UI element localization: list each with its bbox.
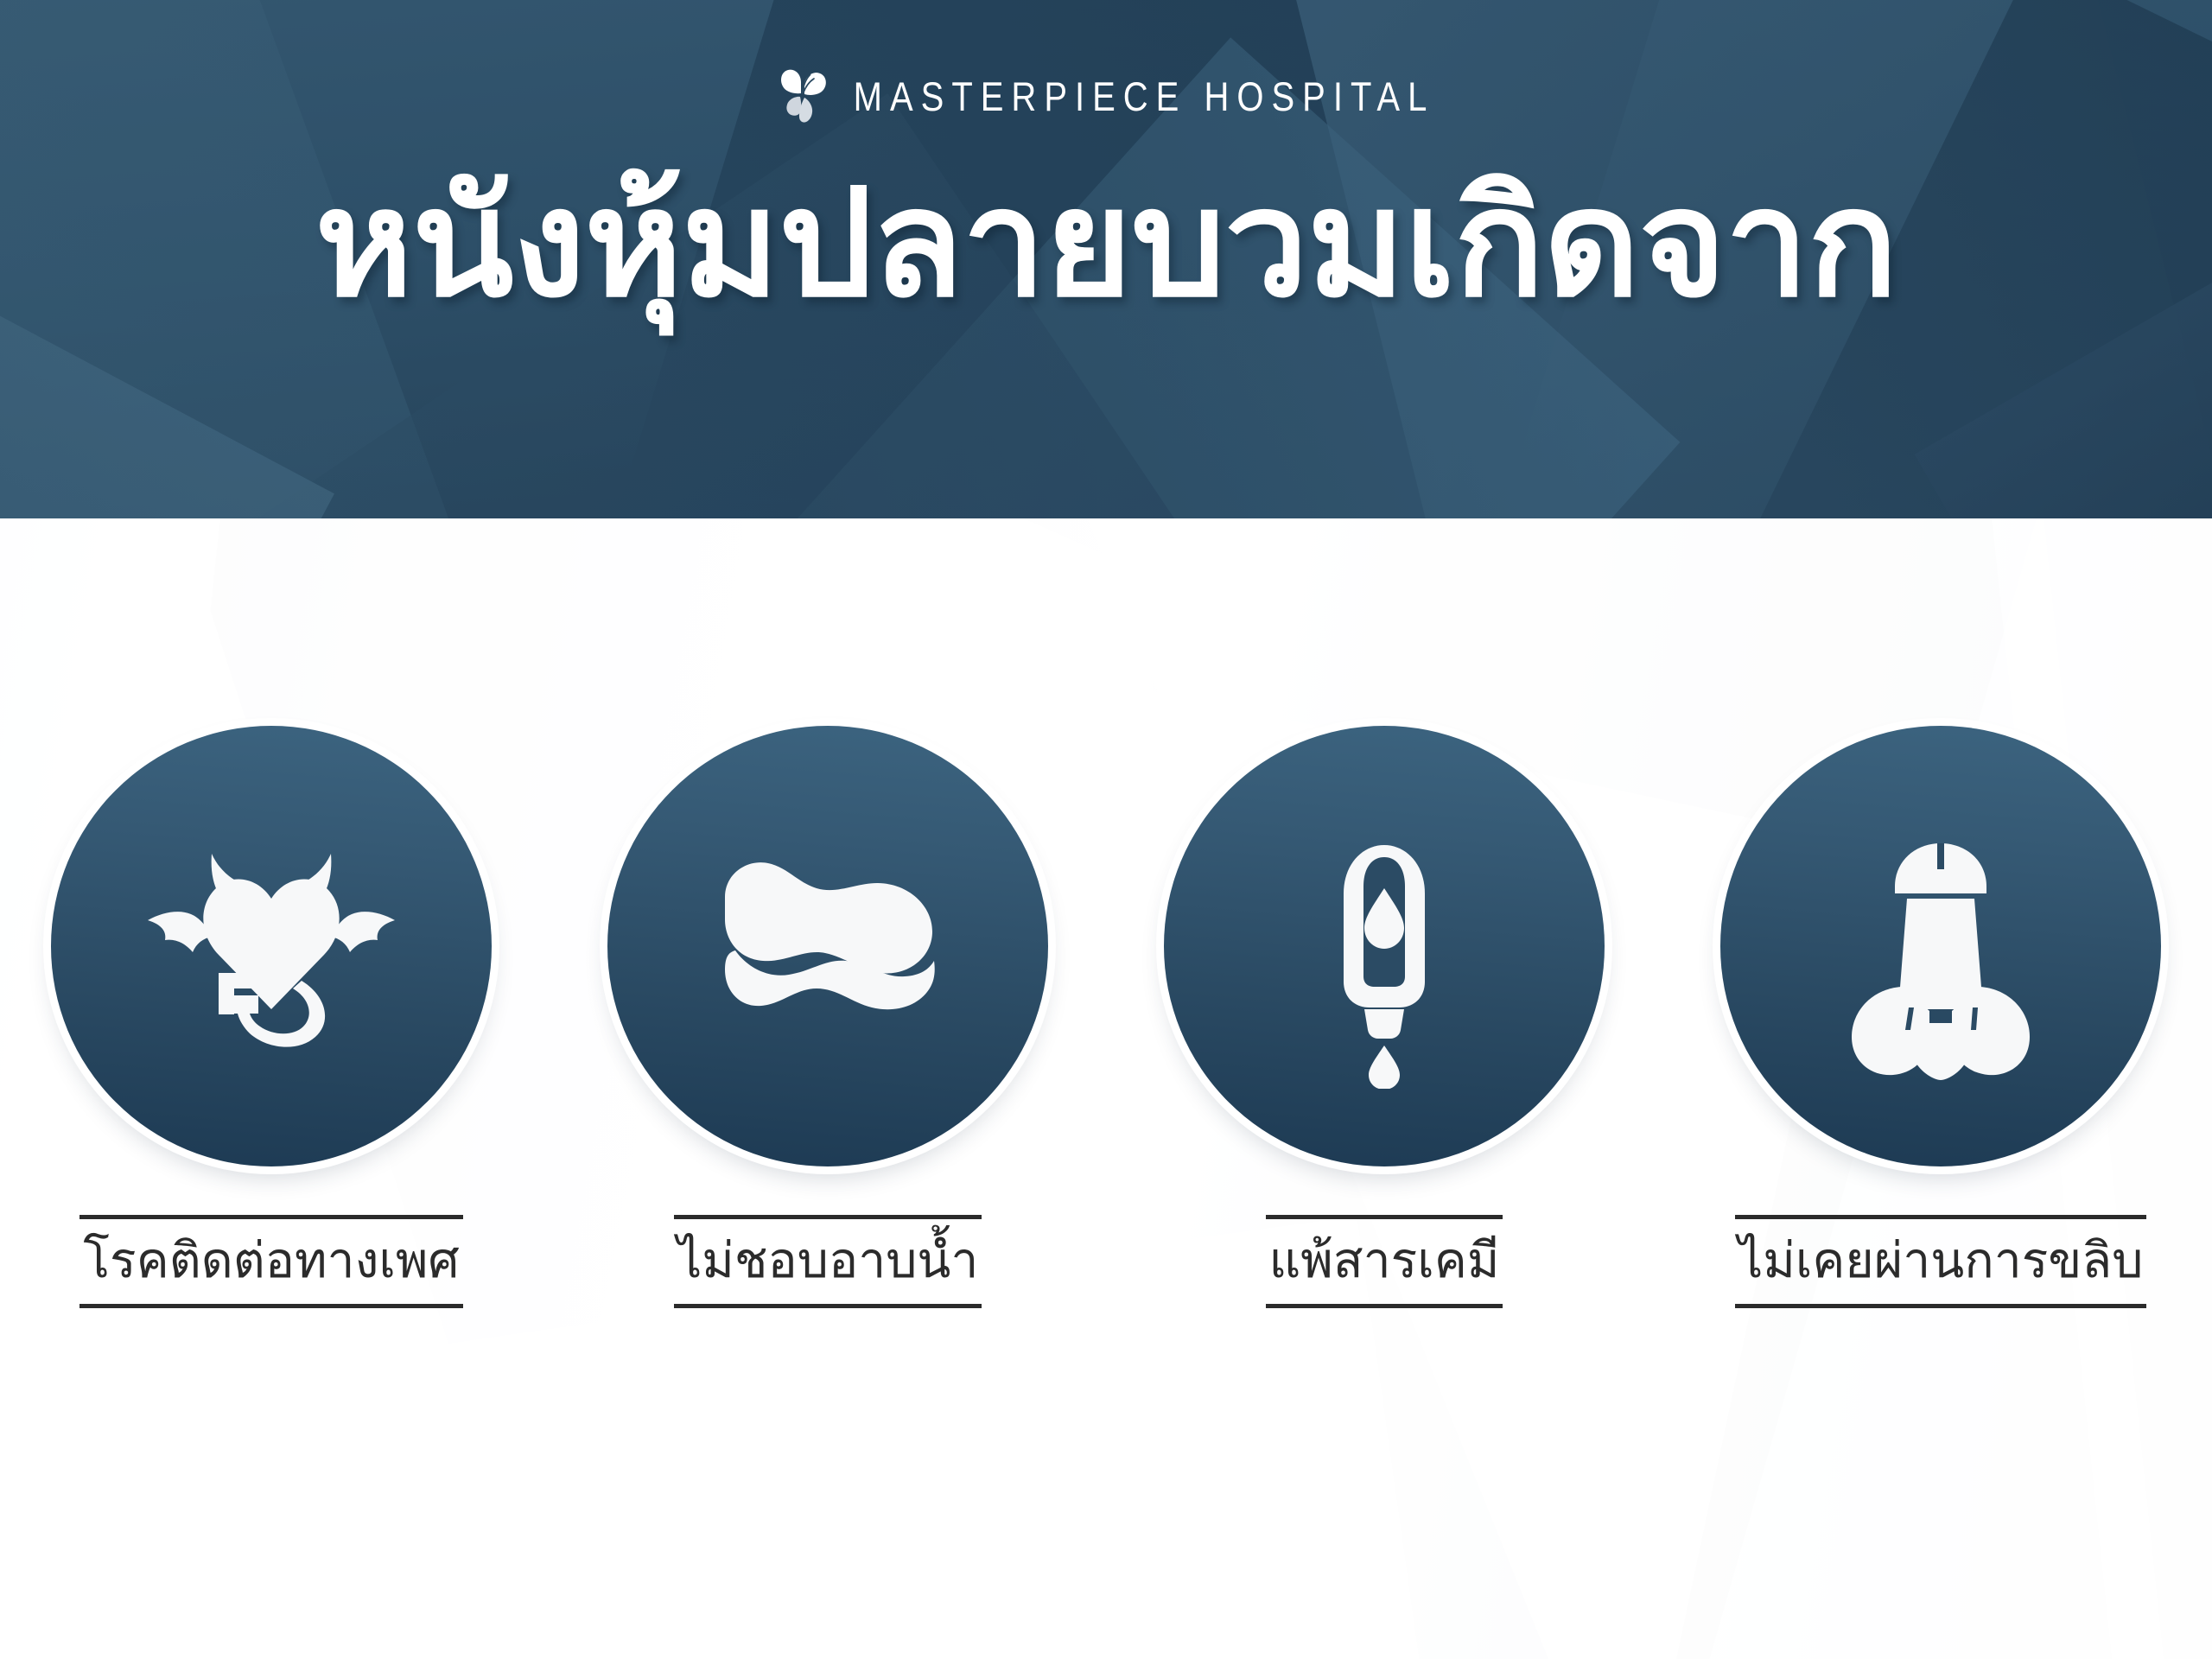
devil-heart-icon bbox=[129, 804, 414, 1089]
page-title: หนังหุ้มปลายบวมเกิดจาก bbox=[0, 169, 2212, 318]
card-caption: ไม่เคยผ่านการขลิบ bbox=[1735, 1215, 2147, 1308]
card-label: ไม่ชอบอาบน้ำ bbox=[674, 1219, 982, 1304]
uncircumcised-penis-icon bbox=[1798, 804, 2083, 1089]
soap-dispenser-drop-icon bbox=[1242, 804, 1527, 1089]
cause-card[interactable]: แพ้สารเคมี bbox=[1164, 726, 1605, 1308]
cause-card-list: โรคติดต่อทางเพศ bbox=[0, 726, 2212, 1308]
brand-lockup: MASTERPIECE HOSPITAL bbox=[0, 67, 2212, 128]
card-label: แพ้สารเคมี bbox=[1266, 1219, 1503, 1304]
cause-card[interactable]: ไม่เคยผ่านการขลิบ bbox=[1720, 726, 2161, 1308]
bath-sponge-icon bbox=[685, 804, 970, 1089]
butterfly-icon bbox=[778, 67, 831, 128]
header-banner: MASTERPIECE HOSPITAL หนังหุ้มปลายบวมเกิด… bbox=[0, 0, 2212, 518]
card-caption: โรคติดต่อทางเพศ bbox=[79, 1215, 462, 1308]
card-caption: แพ้สารเคมี bbox=[1266, 1215, 1503, 1308]
icon-circle[interactable] bbox=[51, 726, 492, 1166]
icon-circle[interactable] bbox=[1164, 726, 1605, 1166]
card-caption: ไม่ชอบอาบน้ำ bbox=[674, 1215, 982, 1308]
cause-card[interactable]: ไม่ชอบอาบน้ำ bbox=[607, 726, 1048, 1308]
cause-card[interactable]: โรคติดต่อทางเพศ bbox=[51, 726, 492, 1308]
caption-rule-bottom bbox=[79, 1304, 462, 1308]
infographic-poster: MASTERPIECE HOSPITAL หนังหุ้มปลายบวมเกิด… bbox=[0, 0, 2212, 1659]
caption-rule-bottom bbox=[1266, 1304, 1503, 1308]
card-label: ไม่เคยผ่านการขลิบ bbox=[1735, 1219, 2147, 1304]
brand-name: MASTERPIECE HOSPITAL bbox=[854, 74, 1435, 120]
icon-circle[interactable] bbox=[607, 726, 1048, 1166]
icon-circle[interactable] bbox=[1720, 726, 2161, 1166]
caption-rule-bottom bbox=[1735, 1304, 2147, 1308]
caption-rule-bottom bbox=[674, 1304, 982, 1308]
card-label: โรคติดต่อทางเพศ bbox=[79, 1219, 462, 1304]
